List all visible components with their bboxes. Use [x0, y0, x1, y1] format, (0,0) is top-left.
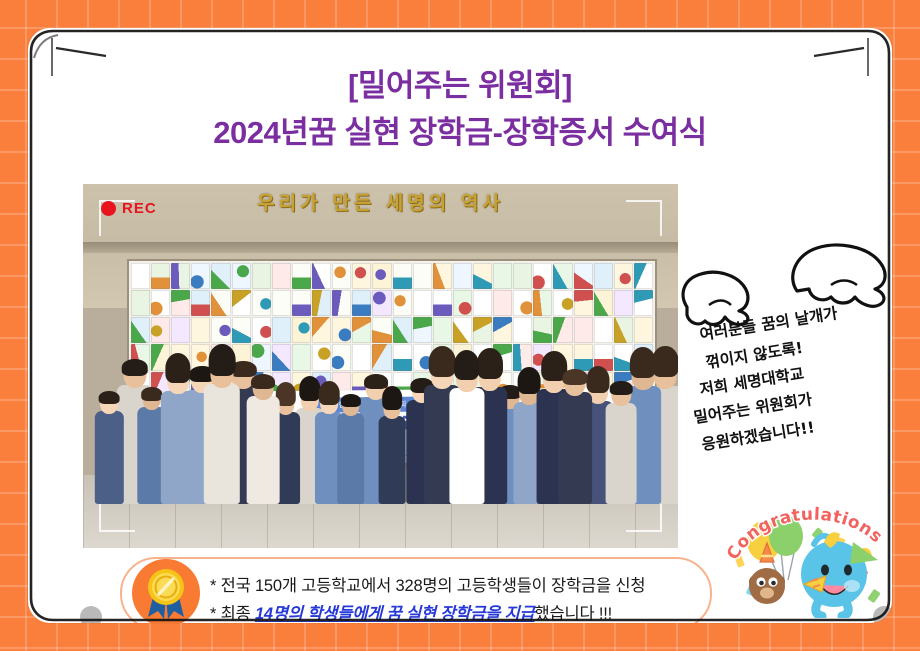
person-silhouette	[335, 366, 366, 504]
person-body	[379, 416, 406, 504]
mosaic-tile	[292, 290, 311, 316]
mosaic-tile	[594, 290, 613, 316]
mosaic-tile	[393, 263, 412, 289]
person-hair	[209, 344, 236, 376]
mosaic-tile	[533, 263, 552, 289]
mosaic-tile	[614, 290, 633, 316]
person-body	[558, 392, 592, 504]
person-hair	[610, 381, 633, 395]
person-silhouette	[159, 332, 198, 504]
mosaic-tile	[272, 317, 291, 343]
mosaic-tile	[393, 290, 412, 316]
mosaic-tile	[433, 290, 452, 316]
viewfinder-corner-tr	[626, 200, 662, 236]
mosaic-tile	[533, 290, 552, 316]
person-silhouette	[93, 362, 125, 504]
mosaic-tile	[352, 263, 371, 289]
medal-icon	[132, 559, 200, 623]
mosaic-tile	[352, 317, 371, 343]
person-body	[606, 403, 637, 505]
caption-line-2-prefix: * 최종	[210, 605, 255, 623]
title-line-1: [밀어주는 위원회]	[28, 66, 892, 106]
person-silhouette	[245, 341, 282, 505]
mosaic-tile	[553, 263, 572, 289]
mosaic-tile	[433, 263, 452, 289]
person-hair	[562, 369, 587, 385]
person-hair	[165, 353, 190, 383]
mosaic-tile	[292, 263, 311, 289]
person-silhouette	[604, 350, 639, 504]
mosaic-tile	[574, 290, 593, 316]
mosaic-tile	[634, 263, 653, 289]
mosaic-tile	[393, 317, 412, 343]
mosaic-tile	[191, 263, 210, 289]
person-silhouette	[447, 329, 487, 505]
caption-line-2-suffix: 했습니다 !!!	[535, 605, 612, 623]
mosaic-tile	[232, 263, 251, 289]
mosaic-tile	[312, 290, 331, 316]
caption-line-2: * 최종 14명의 학생들에게 꿈 실현 장학금을 지급했습니다 !!!	[210, 600, 612, 623]
person-silhouette	[377, 370, 407, 504]
mosaic-tile	[473, 290, 492, 316]
mosaic-tile	[332, 263, 351, 289]
person-body	[449, 388, 484, 504]
mosaic-tile	[594, 317, 613, 343]
person-silhouette	[201, 322, 242, 504]
mosaic-tile	[151, 263, 170, 289]
summary-caption-box: * 전국 150개 고등학교에서 328명의 고등학생들이 장학금을 신청 * …	[120, 557, 712, 623]
congratulations-sticker: Congratulations	[718, 498, 892, 618]
mosaic-tile	[473, 263, 492, 289]
decorative-dot-left	[80, 606, 102, 623]
mosaic-tile	[332, 290, 351, 316]
person-hair	[99, 391, 120, 404]
mosaic-tile	[352, 290, 371, 316]
title-line-2: 2024년꿈 실현 장학금-장학증서 수여식	[28, 113, 892, 153]
mosaic-tile	[413, 290, 432, 316]
decorative-dot-right	[873, 606, 892, 623]
mosaic-tile	[272, 290, 291, 316]
mosaic-tile	[453, 290, 472, 316]
mosaic-tile	[453, 263, 472, 289]
mosaic-tile	[252, 263, 271, 289]
crowd-of-people	[83, 344, 678, 504]
mosaic-tile	[493, 290, 512, 316]
rec-indicator: REC	[101, 200, 157, 217]
mosaic-tile	[191, 290, 210, 316]
mosaic-tile	[171, 263, 190, 289]
person-body	[95, 411, 123, 505]
mosaic-tile	[493, 263, 512, 289]
caption-emphasis: 14명의 학생들에게 꿈 실현 장학금을 지급	[255, 605, 535, 623]
mosaic-tile	[312, 263, 331, 289]
wall-text: 우리가 만든 세명의 역사	[83, 188, 678, 215]
mosaic-tile	[372, 263, 391, 289]
mosaic-tile	[574, 263, 593, 289]
mosaic-tile	[131, 263, 150, 289]
mosaic-tile	[171, 290, 190, 316]
person-body	[337, 413, 365, 504]
mosaic-tile	[372, 317, 391, 343]
mosaic-tile	[332, 317, 351, 343]
mosaic-tile	[312, 317, 331, 343]
mosaic-tile	[211, 290, 230, 316]
mosaic-tile	[292, 317, 311, 343]
mosaic-tile	[634, 290, 653, 316]
mosaic-tile	[553, 290, 572, 316]
handwritten-message: 여러분들 꿈의 날개가 꺾이지 않도록! 저희 세명대학교 밀어주는 위원회가 …	[688, 328, 892, 466]
person-hair	[251, 374, 275, 389]
record-dot-icon	[101, 201, 116, 216]
caption-line-1: * 전국 150개 고등학교에서 328명의 고등학생들이 장학금을 신청	[210, 572, 645, 596]
mosaic-tile	[131, 290, 150, 316]
congrats-artwork-icon: Congratulations	[718, 498, 892, 618]
poster-card: [밀어주는 위원회] 2024년꿈 실현 장학금-장학증서 수여식 우리가 만든…	[28, 28, 892, 623]
person-body	[204, 384, 240, 504]
person-hair	[340, 394, 360, 407]
person-silhouette	[556, 335, 594, 505]
mosaic-tile	[252, 290, 271, 316]
person-body	[247, 396, 280, 504]
mosaic-tile	[513, 290, 532, 316]
mosaic-tile	[513, 317, 532, 343]
mosaic-tile	[614, 263, 633, 289]
person-hair	[454, 350, 480, 380]
person-hair	[382, 386, 402, 409]
mosaic-tile	[513, 263, 532, 289]
mosaic-tile	[232, 290, 251, 316]
mosaic-tile	[413, 263, 432, 289]
person-body	[161, 391, 195, 504]
mosaic-tile	[594, 263, 613, 289]
mosaic-tile	[211, 263, 230, 289]
mosaic-tile	[372, 290, 391, 316]
mosaic-tile	[151, 290, 170, 316]
rec-label: REC	[122, 200, 157, 217]
medal-badge	[132, 559, 200, 623]
mosaic-tile	[272, 263, 291, 289]
page-title: [밀어주는 위원회] 2024년꿈 실현 장학금-장학증서 수여식	[28, 66, 892, 154]
event-photo: 우리가 만든 세명의 역사 꿈 실현 장학금 수여 제3회 무소출정식 꿈이있는…	[83, 184, 678, 548]
wall-beam	[83, 242, 678, 253]
